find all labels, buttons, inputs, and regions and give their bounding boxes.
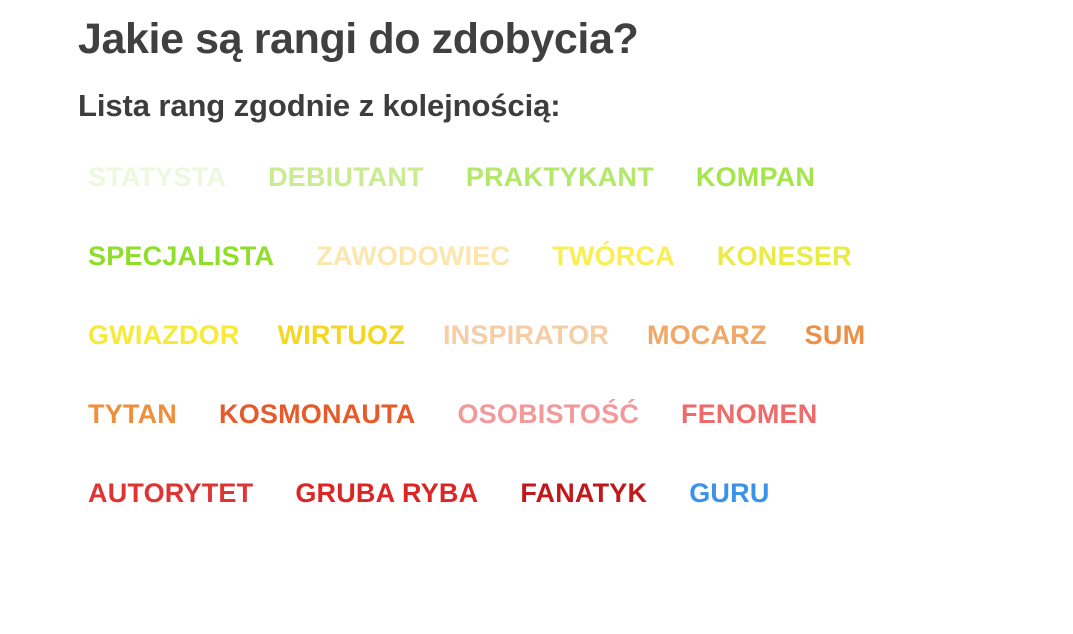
rank-list-page: Jakie są rangi do zdobycia? Lista rang z… xyxy=(0,0,1073,634)
rank-row: SPECJALISTAZAWODOWIECTWÓRCAKONESER xyxy=(88,243,1033,322)
rank-row: GWIAZDORWIRTUOZINSPIRATORMOCARZSUM xyxy=(88,322,1033,401)
rank-list: STATYSTADEBIUTANTPRAKTYKANTKOMPANSPECJAL… xyxy=(0,124,1073,559)
rank-item: DEBIUTANT xyxy=(268,164,424,191)
rank-item: TWÓRCA xyxy=(552,243,675,270)
rank-item: GWIAZDOR xyxy=(88,322,240,349)
rank-row: AUTORYTETGRUBA RYBAFANATYKGURU xyxy=(88,480,1033,559)
rank-item: INSPIRATOR xyxy=(443,322,609,349)
rank-row: STATYSTADEBIUTANTPRAKTYKANTKOMPAN xyxy=(88,164,1033,243)
rank-item: WIRTUOZ xyxy=(278,322,405,349)
rank-item: GRUBA RYBA xyxy=(295,480,478,507)
rank-item: FANATYK xyxy=(520,480,647,507)
rank-item: SPECJALISTA xyxy=(88,243,274,270)
rank-row: TYTANKOSMONAUTAOSOBISTOŚĆFENOMEN xyxy=(88,401,1033,480)
rank-item: OSOBISTOŚĆ xyxy=(457,401,639,428)
rank-item: TYTAN xyxy=(88,401,177,428)
rank-item: GURU xyxy=(689,480,769,507)
heading-block: Jakie są rangi do zdobycia? Lista rang z… xyxy=(0,0,1073,124)
rank-item: PRAKTYKANT xyxy=(466,164,654,191)
rank-item: ZAWODOWIEC xyxy=(316,243,510,270)
rank-item: AUTORYTET xyxy=(88,480,253,507)
rank-item: FENOMEN xyxy=(681,401,817,428)
rank-item: KOSMONAUTA xyxy=(219,401,415,428)
rank-item: KOMPAN xyxy=(696,164,815,191)
page-subtitle: Lista rang zgodnie z kolejnością: xyxy=(78,65,1073,124)
rank-item: SUM xyxy=(805,322,866,349)
page-title: Jakie są rangi do zdobycia? xyxy=(78,14,1073,65)
rank-item: KONESER xyxy=(717,243,852,270)
rank-item: MOCARZ xyxy=(647,322,767,349)
rank-item: STATYSTA xyxy=(88,164,226,191)
